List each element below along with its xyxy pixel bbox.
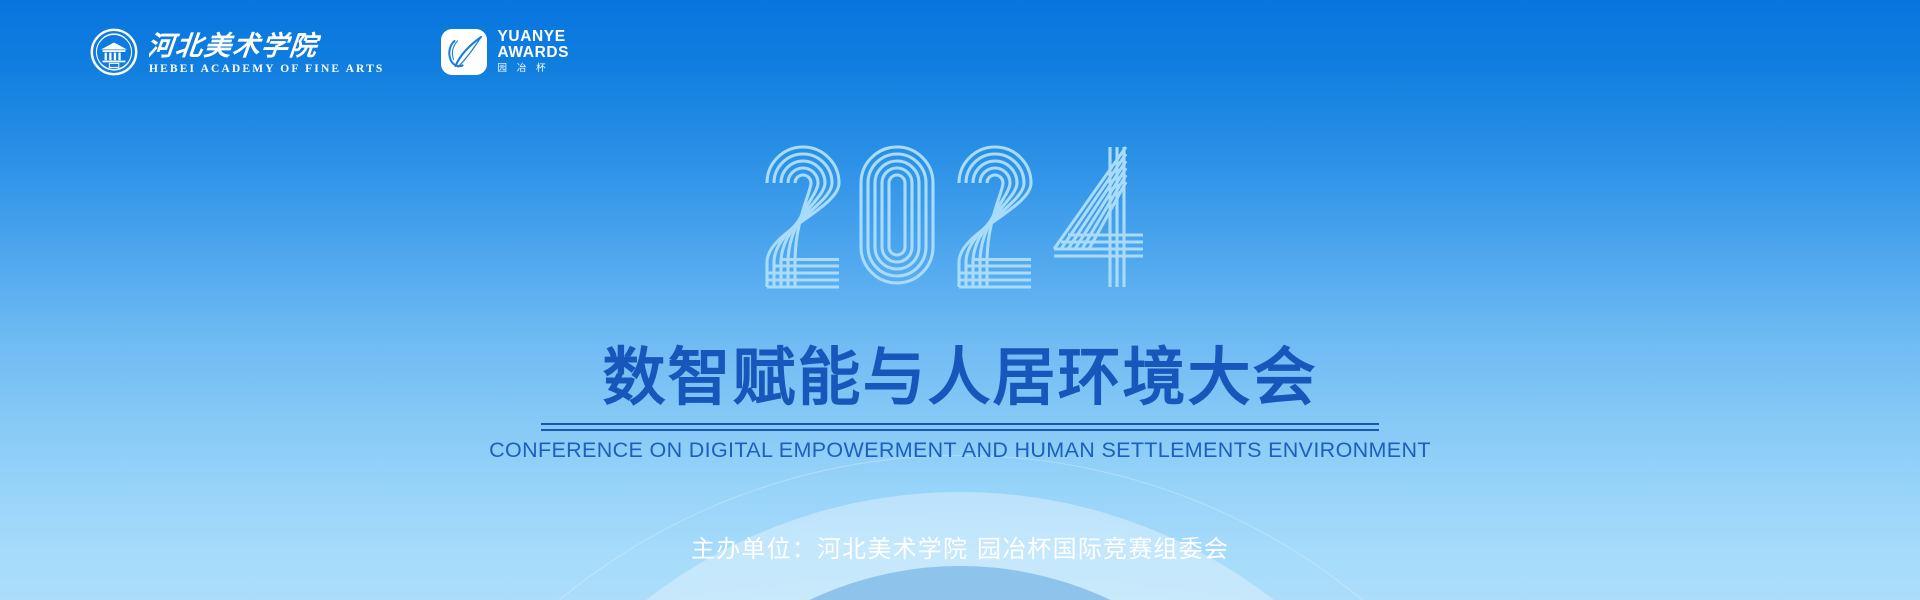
hebei-academy-name-en: HEBEI ACADEMY OF FINE ARTS bbox=[149, 63, 384, 76]
hebei-academy-logo[interactable]: 河北美术学院 HEBEI ACADEMY OF FINE ARTS bbox=[90, 28, 384, 76]
logo-row: 河北美术学院 HEBEI ACADEMY OF FINE ARTS YUANYE… bbox=[90, 28, 569, 76]
hebei-academy-name-cn: 河北美术学院 bbox=[149, 28, 384, 62]
divider-rule-bottom bbox=[541, 429, 1379, 431]
yuanye-line-2: AWARDS bbox=[497, 45, 569, 61]
year-graphic-2024 bbox=[0, 136, 1920, 294]
yuanye-awards-wordmark: YUANYE AWARDS 园 冶 杯 bbox=[497, 29, 569, 75]
hebei-academy-wordmark: 河北美术学院 HEBEI ACADEMY OF FINE ARTS bbox=[149, 28, 384, 76]
conference-banner: 河北美术学院 HEBEI ACADEMY OF FINE ARTS YUANYE… bbox=[0, 0, 1920, 600]
hebei-academy-seal-icon bbox=[90, 28, 138, 76]
title-block: 数智赋能与人居环境大会 CONFERENCE ON DIGITAL EMPOWE… bbox=[0, 340, 1920, 463]
yuanye-name-cn: 园 冶 杯 bbox=[497, 62, 569, 75]
yuanye-line-1: YUANYE bbox=[497, 29, 569, 45]
yuanye-awards-logo[interactable]: YUANYE AWARDS 园 冶 杯 bbox=[440, 28, 569, 76]
svg-text:河北美术学院: 河北美术学院 bbox=[149, 31, 321, 62]
title-divider-rules bbox=[541, 423, 1379, 431]
yuanye-awards-mark-icon bbox=[440, 28, 488, 76]
page-subtitle: CONFERENCE ON DIGITAL EMPOWERMENT AND HU… bbox=[0, 437, 1920, 463]
organizer-line: 主办单位：河北美术学院 园冶杯国际竞赛组委会 bbox=[0, 533, 1920, 565]
page-title: 数智赋能与人居环境大会 bbox=[0, 340, 1920, 416]
